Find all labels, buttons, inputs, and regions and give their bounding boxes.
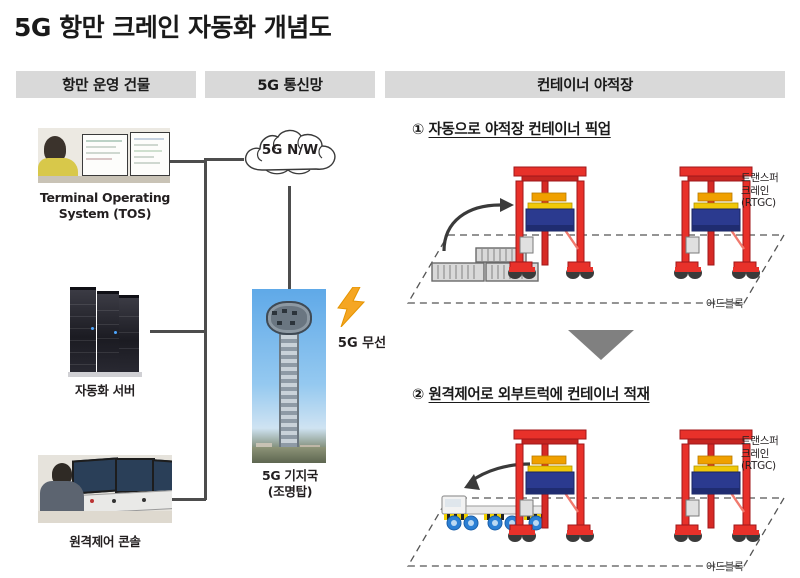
crane-label-2-line1: 트랜스퍼 (741, 435, 800, 448)
crane-label-2-line2: 크레인 (741, 448, 800, 461)
tower-caption-line1: 5G 기지국 (226, 468, 354, 484)
tos-workstation-photo (38, 128, 170, 183)
step1-marker: ① (412, 122, 424, 138)
column-header-port-operations: 항만 운영 건물 (16, 71, 196, 98)
crane-label-1-line3: (RTGC) (741, 197, 800, 210)
crane-label-1-line2: 크레인 (741, 185, 800, 198)
yard-block-label-1: 야드블록 (706, 296, 743, 311)
step2-marker: ② (412, 387, 424, 403)
connector-server-to-trunk (150, 330, 206, 333)
column-header-container-yard: 컨테이너 야적장 (385, 71, 785, 98)
step-flow-down-arrow-icon (568, 330, 634, 366)
step2-text: 원격제어로 외부트럭에 컨테이너 적재 (429, 387, 650, 403)
wireless-label: 5G 무선 (326, 332, 398, 351)
step2-title: ② 원격제어로 외부트럭에 컨테이너 적재 (412, 383, 650, 404)
step1-text: 자동으로 야적장 컨테이너 픽업 (429, 122, 611, 138)
page-title: 5G 항만 크레인 자동화 개념도 (14, 8, 331, 44)
crane-label-1-line1: 트랜스퍼 (741, 172, 800, 185)
tos-caption: Terminal Operating System (TOS) (14, 190, 196, 221)
tos-caption-line2: System (TOS) (14, 206, 196, 222)
transfer-crane-left-2 (502, 426, 598, 548)
step1-title: ① 자동으로 야적장 컨테이너 픽업 (412, 118, 611, 139)
tos-caption-line1: Terminal Operating (14, 190, 196, 206)
server-rack-photo (62, 283, 147, 377)
column-header-5g-network: 5G 통신망 (205, 71, 375, 98)
crane-label-2-line3: (RTGC) (741, 460, 800, 473)
lightning-bolt-icon (336, 287, 366, 327)
transfer-crane-left-1 (502, 163, 598, 285)
crane-label-1: 트랜스퍼 크레인 (RTGC) (741, 172, 800, 210)
remote-control-console-photo (38, 455, 172, 523)
tower-caption-line2: (조명탑) (226, 484, 354, 500)
console-caption: 원격제어 콘솔 (22, 534, 188, 550)
connector-cloud-to-tower (288, 186, 291, 290)
yard-block-label-2: 야드블록 (706, 559, 743, 574)
crane-label-2: 트랜스퍼 크레인 (RTGC) (741, 435, 800, 473)
server-caption: 자동화 서버 (24, 383, 186, 399)
5g-base-station-tower-photo (252, 289, 326, 463)
tower-caption: 5G 기지국 (조명탑) (226, 468, 354, 499)
connector-vertical-trunk (204, 160, 207, 500)
cloud-label: 5G N/W (236, 142, 344, 158)
